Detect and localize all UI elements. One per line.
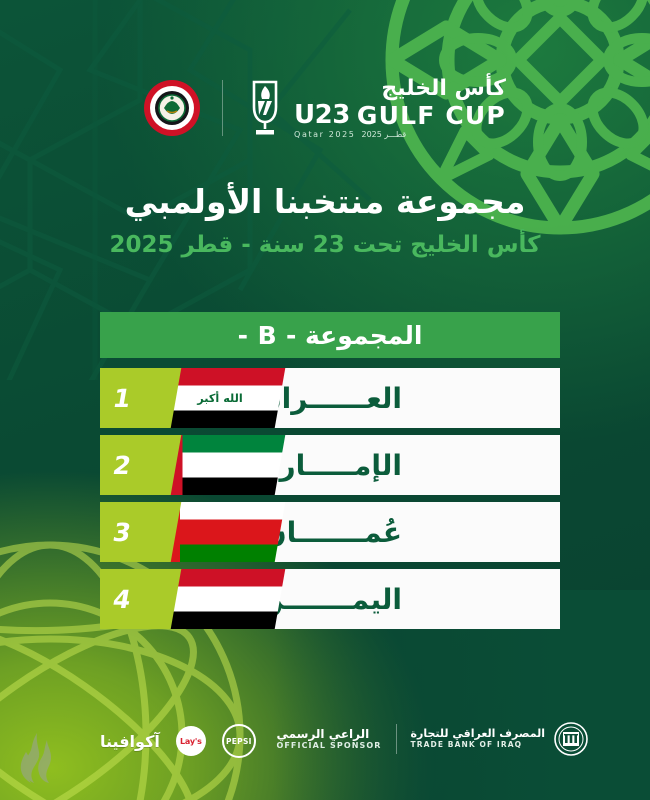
table-row[interactable]: العــــــراق الله أكبر 1 <box>100 368 560 428</box>
footer-sponsors: آكوافينا Lay's PEPSI <box>0 712 650 758</box>
tbi-wordmark: المصرف العراقي للتجارة TRADE BANK OF IRA… <box>411 728 545 749</box>
footer-divider <box>396 724 397 754</box>
iraq-fa-emblem-icon <box>144 80 200 136</box>
rank-badge: 4 <box>100 569 181 629</box>
rank-number: 4 <box>100 569 165 629</box>
page-title: مجموعة منتخبنا الأولمبي <box>0 182 650 221</box>
cup-host-line: Qatar 2025 قطـــر 2025 <box>294 131 406 139</box>
svg-text:الله أكبر: الله أكبر <box>196 391 242 405</box>
group-panel: المجموعة - B - العــــــراق الله أكبر 1 <box>100 312 560 629</box>
beverage-sponsors: آكوافينا Lay's PEPSI <box>100 724 256 758</box>
trophy-icon <box>245 77 285 139</box>
rank-badge: 1 <box>100 368 181 428</box>
aquafina-logo: آكوافينا <box>100 732 160 751</box>
table-row[interactable]: عُمـــــــان <box>100 502 560 562</box>
group-label: المجموعة - B - <box>238 321 423 350</box>
rank-number: 3 <box>100 502 165 562</box>
lays-logo: Lay's <box>176 726 206 756</box>
official-sponsor-arabic: الراعي الرسمي <box>276 727 369 741</box>
trade-bank-of-iraq-logo: المصرف العراقي للتجارة TRADE BANK OF IRA… <box>411 722 588 756</box>
gulf-cup-wordmark: كأس الخليج U23 GULF CUP Qatar 2025 قطـــ… <box>294 78 506 139</box>
gulf-cup-logo: كأس الخليج U23 GULF CUP Qatar 2025 قطـــ… <box>245 77 506 139</box>
cup-name-english: GULF CUP <box>357 103 506 128</box>
cup-name-arabic: كأس الخليج <box>381 78 506 100</box>
tbi-name-english: TRADE BANK OF IRAQ <box>411 741 545 750</box>
rank-number: 2 <box>100 435 165 495</box>
rank-badge: 3 <box>100 502 181 562</box>
rank-badge: 2 <box>100 435 181 495</box>
official-sponsor-block: المصرف العراقي للتجارة TRADE BANK OF IRA… <box>276 722 588 756</box>
official-sponsor-english: OFFICIAL SPONSOR <box>276 741 381 751</box>
team-list: العــــــراق الله أكبر 1 الإمـــــارات <box>100 368 560 629</box>
header-divider <box>222 80 223 136</box>
table-row[interactable]: الإمـــــارات 2 <box>100 435 560 495</box>
official-sponsor-label: الراعي الرسمي OFFICIAL SPONSOR <box>276 727 381 751</box>
group-header-bar: المجموعة - B - <box>100 312 560 358</box>
header-logos: كأس الخليج U23 GULF CUP Qatar 2025 قطـــ… <box>0 62 650 154</box>
page-subtitle: كأس الخليج تحت 23 سنة - قطر 2025 <box>0 232 650 258</box>
tbi-seal-icon <box>554 722 588 756</box>
cup-host-arabic: قطـــر 2025 <box>361 131 406 139</box>
poster-canvas: كأس الخليج U23 GULF CUP Qatar 2025 قطـــ… <box>0 0 650 800</box>
pepsi-logo: PEPSI <box>222 724 256 758</box>
rank-number: 1 <box>100 368 165 428</box>
table-row[interactable]: اليمـــــــن 4 <box>100 569 560 629</box>
cup-age-label: U23 <box>294 102 350 128</box>
cup-host-english: Qatar 2025 <box>294 131 355 139</box>
